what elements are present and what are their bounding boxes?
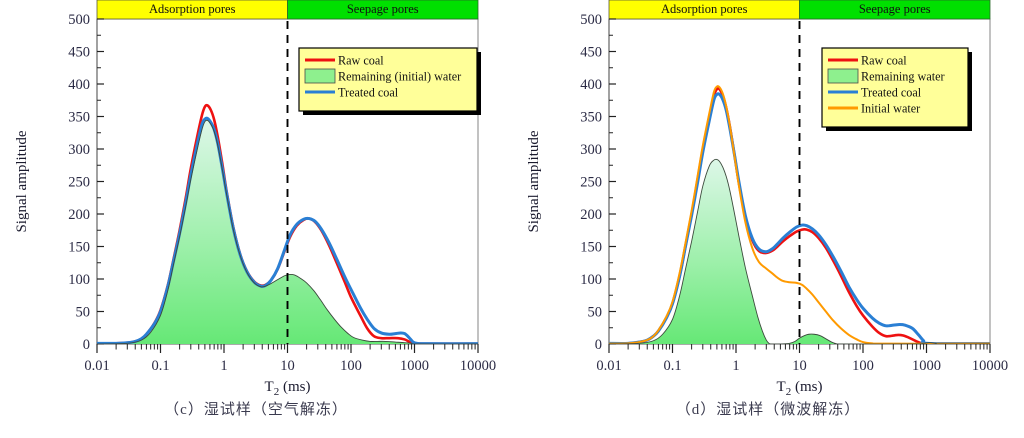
y-tick-label: 300 xyxy=(580,142,602,158)
y-tick-label: 50 xyxy=(76,305,91,321)
x-tick-label: 1 xyxy=(732,358,739,374)
legend: Raw coalRemaining (initial) waterTreated… xyxy=(299,48,481,115)
x-tick-label: 0.1 xyxy=(663,358,681,374)
y-tick-label: 350 xyxy=(68,110,90,126)
y-tick-label: 500 xyxy=(580,12,602,28)
y-tick-label: 250 xyxy=(68,175,90,191)
y-tick-label: 250 xyxy=(580,175,602,191)
y-tick-label: 0 xyxy=(83,337,90,353)
legend-label: Initial water xyxy=(861,102,920,116)
panel-caption-d: （d）湿试样（微波解冻） xyxy=(512,398,1024,419)
x-tick-label: 1000 xyxy=(400,358,429,374)
legend-label: Treated coal xyxy=(338,86,399,100)
x-axis: 0.010.1110100100010000T2 (ms) xyxy=(596,344,1008,398)
pore-class-banner: Adsorption poresSeepage pores xyxy=(97,0,478,19)
y-tick-label: 400 xyxy=(580,77,602,93)
chart-canvas: Adsorption poresSeepage pores05010015020… xyxy=(0,0,512,398)
legend-swatch-patch xyxy=(305,69,335,83)
legend-item: Remaining water xyxy=(828,69,945,84)
x-tick-label: 0.01 xyxy=(84,358,109,374)
y-tick-label: 100 xyxy=(580,272,602,288)
y-tick-label: 500 xyxy=(68,12,90,28)
y-tick-label: 100 xyxy=(68,272,90,288)
x-tick-label: 10000 xyxy=(972,358,1008,374)
y-tick-label: 200 xyxy=(580,207,602,223)
y-axis: 050100150200250300350400450500Signal amp… xyxy=(526,12,616,353)
chart-svg-d: Adsorption poresSeepage pores05010015020… xyxy=(512,0,1024,398)
banner-left-label: Adsorption pores xyxy=(149,2,236,16)
y-axis-title: Signal amplitude xyxy=(526,130,542,232)
x-axis-title: T2 (ms) xyxy=(777,379,823,398)
x-tick-label: 1000 xyxy=(912,358,941,374)
x-tick-label: 100 xyxy=(852,358,874,374)
legend-label: Remaining water xyxy=(861,70,945,84)
legend-swatch-patch xyxy=(828,69,858,83)
y-tick-label: 200 xyxy=(68,207,90,223)
x-tick-label: 10 xyxy=(792,358,807,374)
y-tick-label: 300 xyxy=(68,142,90,158)
x-tick-label: 1 xyxy=(220,358,227,374)
y-tick-label: 0 xyxy=(595,337,602,353)
banner-left-label: Adsorption pores xyxy=(661,2,748,16)
pore-class-banner: Adsorption poresSeepage pores xyxy=(609,0,990,19)
legend-label: Remaining (initial) water xyxy=(338,70,461,84)
chart-panel-c: Adsorption poresSeepage pores05010015020… xyxy=(0,0,512,438)
chart-canvas: Adsorption poresSeepage pores05010015020… xyxy=(512,0,1024,398)
x-axis-title: T2 (ms) xyxy=(265,379,311,398)
x-tick-label: 0.1 xyxy=(151,358,169,374)
x-axis: 0.010.1110100100010000T2 (ms) xyxy=(84,344,496,398)
y-tick-label: 350 xyxy=(580,110,602,126)
y-tick-label: 150 xyxy=(68,240,90,256)
legend: Raw coalRemaining waterTreated coalIniti… xyxy=(822,48,972,131)
chart-svg-c: Adsorption poresSeepage pores05010015020… xyxy=(0,0,512,398)
figure-root: Adsorption poresSeepage pores05010015020… xyxy=(0,0,1024,438)
legend-item: Remaining (initial) water xyxy=(305,69,461,84)
y-axis-title: Signal amplitude xyxy=(14,130,30,232)
y-tick-label: 50 xyxy=(588,305,603,321)
y-tick-label: 150 xyxy=(580,240,602,256)
y-tick-label: 450 xyxy=(580,45,602,61)
legend-label: Treated coal xyxy=(861,86,922,100)
y-tick-label: 450 xyxy=(68,45,90,61)
x-tick-label: 10 xyxy=(280,358,295,374)
y-tick-label: 400 xyxy=(68,77,90,93)
legend-label: Raw coal xyxy=(861,54,907,68)
legend-label: Raw coal xyxy=(338,54,384,68)
x-tick-label: 10000 xyxy=(460,358,496,374)
x-tick-label: 0.01 xyxy=(596,358,621,374)
banner-right-label: Seepage pores xyxy=(859,2,931,16)
panel-caption-c: （c）湿试样（空气解冻） xyxy=(0,398,512,419)
banner-right-label: Seepage pores xyxy=(347,2,419,16)
chart-panel-d: Adsorption poresSeepage pores05010015020… xyxy=(512,0,1024,438)
y-axis: 050100150200250300350400450500Signal amp… xyxy=(14,12,104,353)
x-tick-label: 100 xyxy=(340,358,362,374)
